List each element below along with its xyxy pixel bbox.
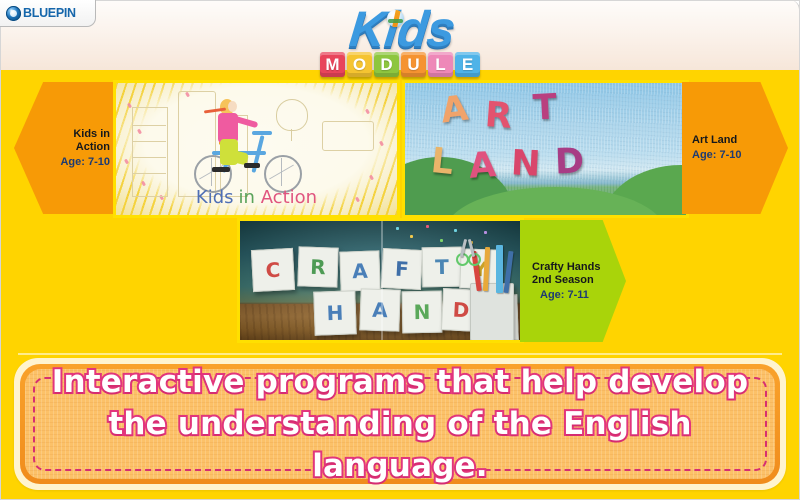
clay-letter: N xyxy=(510,146,541,182)
sketch-building-line xyxy=(132,125,166,126)
rider-shoe xyxy=(212,167,230,172)
clay-letter: T xyxy=(532,90,558,126)
program-title: Crafty Hands xyxy=(532,261,604,274)
program-label-kids-in-action[interactable]: Kids in Action Age: 7-10 xyxy=(14,82,118,214)
module-block-letter: E xyxy=(455,52,480,77)
module-blocks: M O D U L E xyxy=(320,52,480,77)
program-thumbnail-kids-in-action[interactable]: Kids in Action xyxy=(113,80,400,218)
tagline-line-2: the understanding of the English languag… xyxy=(35,403,765,487)
sketch-tree-stem xyxy=(291,129,292,141)
ruler xyxy=(496,245,503,293)
module-block-letter: O xyxy=(347,52,372,77)
image-split-line xyxy=(381,221,383,340)
rider-face xyxy=(228,101,237,112)
clay-letter: A xyxy=(468,148,497,185)
program-title: Kids in Action xyxy=(42,128,110,154)
program-age: Age: 7-10 xyxy=(692,148,762,162)
tagline-banner: Interactive programs that help develop t… xyxy=(14,358,786,490)
rider-shoe xyxy=(244,163,260,168)
sketch-building-line xyxy=(132,141,166,142)
program-age: Age: 7-10 xyxy=(42,155,110,169)
letter-cube: N xyxy=(402,291,443,334)
clay-letter: D xyxy=(554,145,584,181)
bluepin-circle-icon xyxy=(6,6,21,21)
letter-cube: H xyxy=(313,290,357,335)
module-block-letter: U xyxy=(401,52,426,77)
banner-inner-panel: Interactive programs that help develop t… xyxy=(25,369,775,479)
app-window: BLUEPIN Kids M O D U L E Kids in Action … xyxy=(0,0,800,500)
tagline-line-1: Interactive programs that help develop xyxy=(35,361,765,403)
sketch-tree xyxy=(276,99,308,131)
program-title: Art Land xyxy=(692,134,762,147)
letter-cube: T xyxy=(422,247,463,288)
app-header: BLUEPIN Kids M O D U L E xyxy=(0,0,800,72)
clay-letter: A xyxy=(439,91,470,129)
program-row-top: Kids in Action Age: 7-10 xyxy=(0,76,800,216)
page-title: Kids M O D U L E xyxy=(312,2,492,74)
page-title-main: Kids xyxy=(309,0,495,58)
program-label-crafty-hands[interactable]: Crafty Hands 2nd Season Age: 7-11 xyxy=(520,220,626,342)
module-block-letter: M xyxy=(320,52,345,77)
program-age: Age: 7-11 xyxy=(540,288,604,302)
tagline-text: Interactive programs that help develop t… xyxy=(25,361,775,487)
program-row-bottom: C R A F T Y H A N D S xyxy=(0,216,800,347)
brand-logo[interactable]: BLUEPIN xyxy=(0,0,96,27)
clay-letter: L xyxy=(429,144,455,181)
program-subtitle: 2nd Season xyxy=(532,274,604,287)
module-block-letter: L xyxy=(428,52,453,77)
letter-cube: R xyxy=(297,246,338,287)
program-thumbnail-crafty-hands[interactable]: C R A F T Y H A N D S xyxy=(237,218,524,343)
bicycle-handlebar xyxy=(252,131,272,135)
sketch-shop xyxy=(322,121,374,151)
letter-cube: C xyxy=(251,248,295,292)
sketch-building-line xyxy=(132,157,166,158)
program-label-art-land[interactable]: Art Land Age: 7-10 xyxy=(682,82,788,214)
letter-cube: A xyxy=(339,250,380,291)
beach-ball-icon xyxy=(387,10,404,27)
module-block-letter: D xyxy=(374,52,399,77)
thumbnail-caption: Kids in Action xyxy=(116,188,397,207)
letter-cube: F xyxy=(381,248,423,290)
section-divider xyxy=(18,353,782,355)
sketch-building-line xyxy=(132,173,166,174)
brand-name: BLUEPIN xyxy=(23,7,76,20)
program-thumbnail-art-land[interactable]: A R T L A N D xyxy=(402,80,689,218)
clay-letter: R xyxy=(484,98,513,135)
sketch-building xyxy=(132,107,168,197)
